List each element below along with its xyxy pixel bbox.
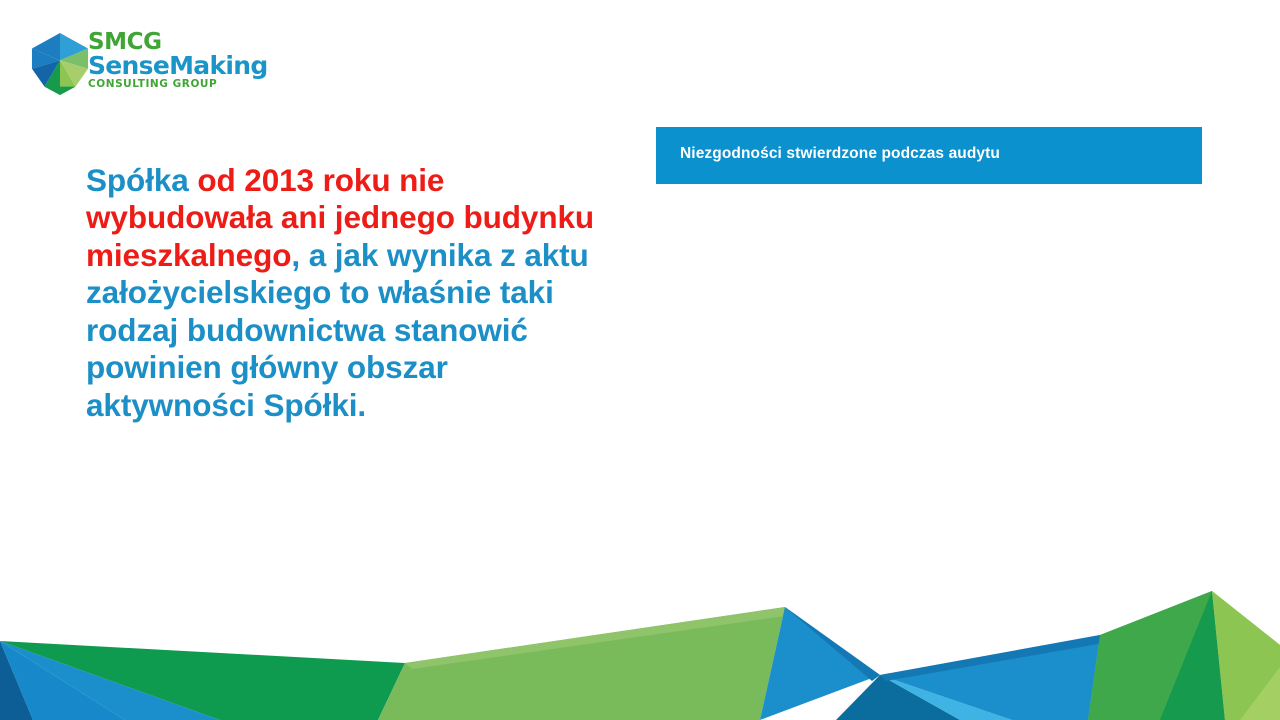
section-title-text: Niezgodności stwierdzone podczas audytu bbox=[656, 145, 1000, 163]
logo-wordmark: SMCG SenseMaking CONSULTING GROUP bbox=[88, 31, 268, 95]
smcg-hexagon-icon bbox=[30, 33, 90, 95]
slide-canvas: SMCG SenseMaking CONSULTING GROUP Spółka… bbox=[0, 0, 1280, 720]
footer-decoration-graphic bbox=[0, 575, 1280, 720]
logo-line-sensemaking: SenseMaking bbox=[88, 53, 268, 78]
logo-line-smcg: SMCG bbox=[88, 31, 268, 53]
body-segment-blue-1: Spółka bbox=[86, 162, 197, 198]
company-logo: SMCG SenseMaking CONSULTING GROUP bbox=[30, 31, 260, 97]
section-title-banner: Niezgodności stwierdzone podczas audytu bbox=[656, 127, 1202, 184]
body-segment-blue-comma: , bbox=[291, 237, 308, 273]
slide-body-text: Spółka od 2013 roku nie wybudowała ani j… bbox=[86, 162, 606, 425]
